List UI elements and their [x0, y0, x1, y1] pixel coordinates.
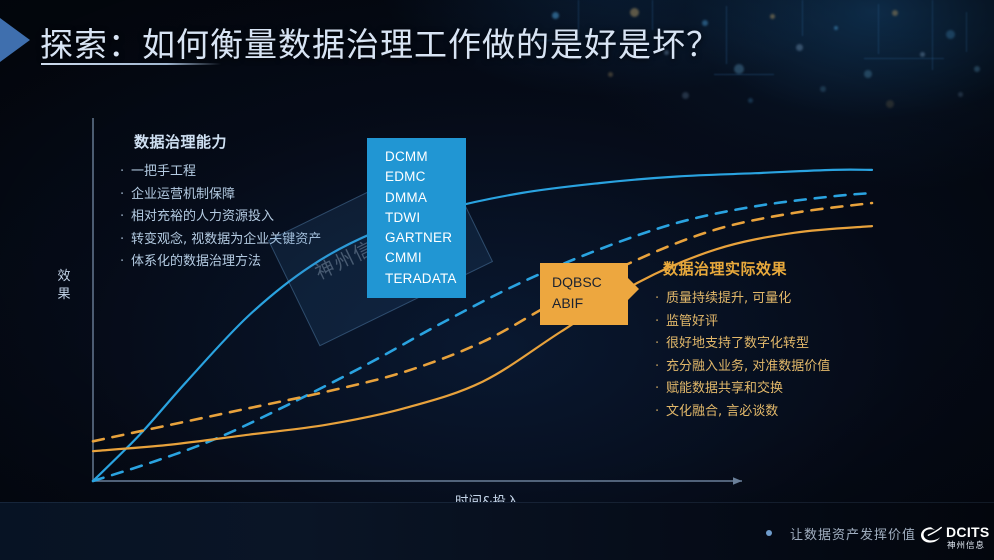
bullet-dot-icon: · — [120, 184, 131, 207]
bullet-dot-icon: · — [120, 206, 131, 229]
bullet-dot-icon: · — [655, 356, 666, 379]
y-axis-label-char: 效 — [56, 268, 72, 286]
callout-blue-item: CMMI — [385, 248, 466, 268]
effect-bullet-label: 赋能数据共享和交换 — [666, 381, 783, 396]
bullet-dot-icon: · — [120, 251, 131, 274]
effect-bullet-label: 文化融合, 言必谈数 — [666, 404, 778, 419]
y-axis-label: 效果 — [56, 268, 72, 304]
bullet-dot-icon: · — [655, 401, 666, 424]
bullet-dot-icon: · — [655, 311, 666, 334]
capability-bullet: ·转变观念, 视数据为企业关键资产 — [120, 229, 321, 252]
callout-orange-item: ABIF — [552, 293, 628, 314]
page-title: 探索：如何衡量数据治理工作做的是好是坏？ — [40, 18, 720, 66]
capability-bullet-label: 转变观念, 视数据为企业关键资产 — [131, 232, 321, 247]
swoosh-icon — [920, 526, 942, 544]
effect-bullet-label: 充分融入业务, 对准数据价值 — [666, 359, 830, 374]
effect-bullet-label: 质量持续提升, 可量化 — [666, 291, 791, 306]
callout-standards-blue[interactable]: DCMMEDMCDMMATDWIGARTNERCMMITERADATA — [367, 138, 466, 298]
logo-brand-text: DCITS — [946, 524, 990, 540]
title-underline — [41, 63, 221, 65]
effect-bullet: ·很好地支持了数字化转型 — [655, 333, 830, 356]
capability-bullet: ·相对充裕的人力资源投入 — [120, 206, 321, 229]
capability-bullet-label: 企业运营机制保障 — [131, 187, 235, 202]
callout-standards-orange[interactable]: DQBSCABIF — [540, 263, 628, 325]
callout-blue-item: TERADATA — [385, 269, 466, 289]
capability-heading: 数据治理能力 — [120, 131, 321, 152]
title-arrow-icon — [0, 18, 30, 62]
capability-bullet-label: 相对充裕的人力资源投入 — [131, 209, 274, 224]
callout-orange-notch-icon — [628, 278, 639, 300]
capability-bullet-list: ·一把手工程·企业运营机制保障·相对充裕的人力资源投入·转变观念, 视数据为企业… — [120, 161, 321, 274]
effect-heading: 数据治理实际效果 — [655, 258, 830, 279]
callout-blue-item: TDWI — [385, 208, 466, 228]
callout-blue-item: EDMC — [385, 167, 466, 187]
effect-bullet-label: 监管好评 — [666, 314, 718, 329]
bullet-dot-icon: · — [120, 229, 131, 252]
capability-bullet: ·体系化的数据治理方法 — [120, 251, 321, 274]
company-logo: DCITS 神州信息 — [920, 524, 986, 554]
capability-bullet: ·企业运营机制保障 — [120, 184, 321, 207]
callout-blue-item: DMMA — [385, 188, 466, 208]
capability-bullet-label: 体系化的数据治理方法 — [131, 254, 261, 269]
effect-bullet-list: ·质量持续提升, 可量化·监管好评·很好地支持了数字化转型·充分融入业务, 对准… — [655, 288, 830, 423]
effect-bullet: ·质量持续提升, 可量化 — [655, 288, 830, 311]
callout-blue-item: DCMM — [385, 147, 466, 167]
chart-area — [0, 0, 994, 560]
effect-bullet: ·充分融入业务, 对准数据价值 — [655, 356, 830, 379]
capability-text-block: 数据治理能力 ·一把手工程·企业运营机制保障·相对充裕的人力资源投入·转变观念,… — [120, 131, 321, 274]
bullet-dot-icon: · — [655, 288, 666, 311]
callout-orange-item: DQBSC — [552, 272, 628, 293]
effect-bullet-label: 很好地支持了数字化转型 — [666, 336, 809, 351]
capability-bullet: ·一把手工程 — [120, 161, 321, 184]
callout-blue-item: GARTNER — [385, 228, 466, 248]
effect-bullet: ·监管好评 — [655, 311, 830, 334]
slide-canvas: 探索：如何衡量数据治理工作做的是好是坏？ 效果 时间&投入 数据治理能力 ·一把… — [0, 0, 994, 560]
bullet-dot-icon: · — [655, 333, 666, 356]
y-axis-label-char: 果 — [56, 286, 72, 304]
bullet-dot-icon: · — [120, 161, 131, 184]
footer-bullet-icon — [766, 530, 772, 536]
effect-bullet: ·赋能数据共享和交换 — [655, 378, 830, 401]
capability-bullet-label: 一把手工程 — [131, 164, 196, 179]
effect-bullet: ·文化融合, 言必谈数 — [655, 401, 830, 424]
effect-text-block: 数据治理实际效果 ·质量持续提升, 可量化·监管好评·很好地支持了数字化转型·充… — [655, 258, 830, 423]
bullet-dot-icon: · — [655, 378, 666, 401]
logo-brand-cn-text: 神州信息 — [947, 539, 985, 551]
footer-tagline: 让数据资产发挥价值 — [790, 524, 916, 543]
x-axis-arrowhead — [733, 477, 742, 485]
